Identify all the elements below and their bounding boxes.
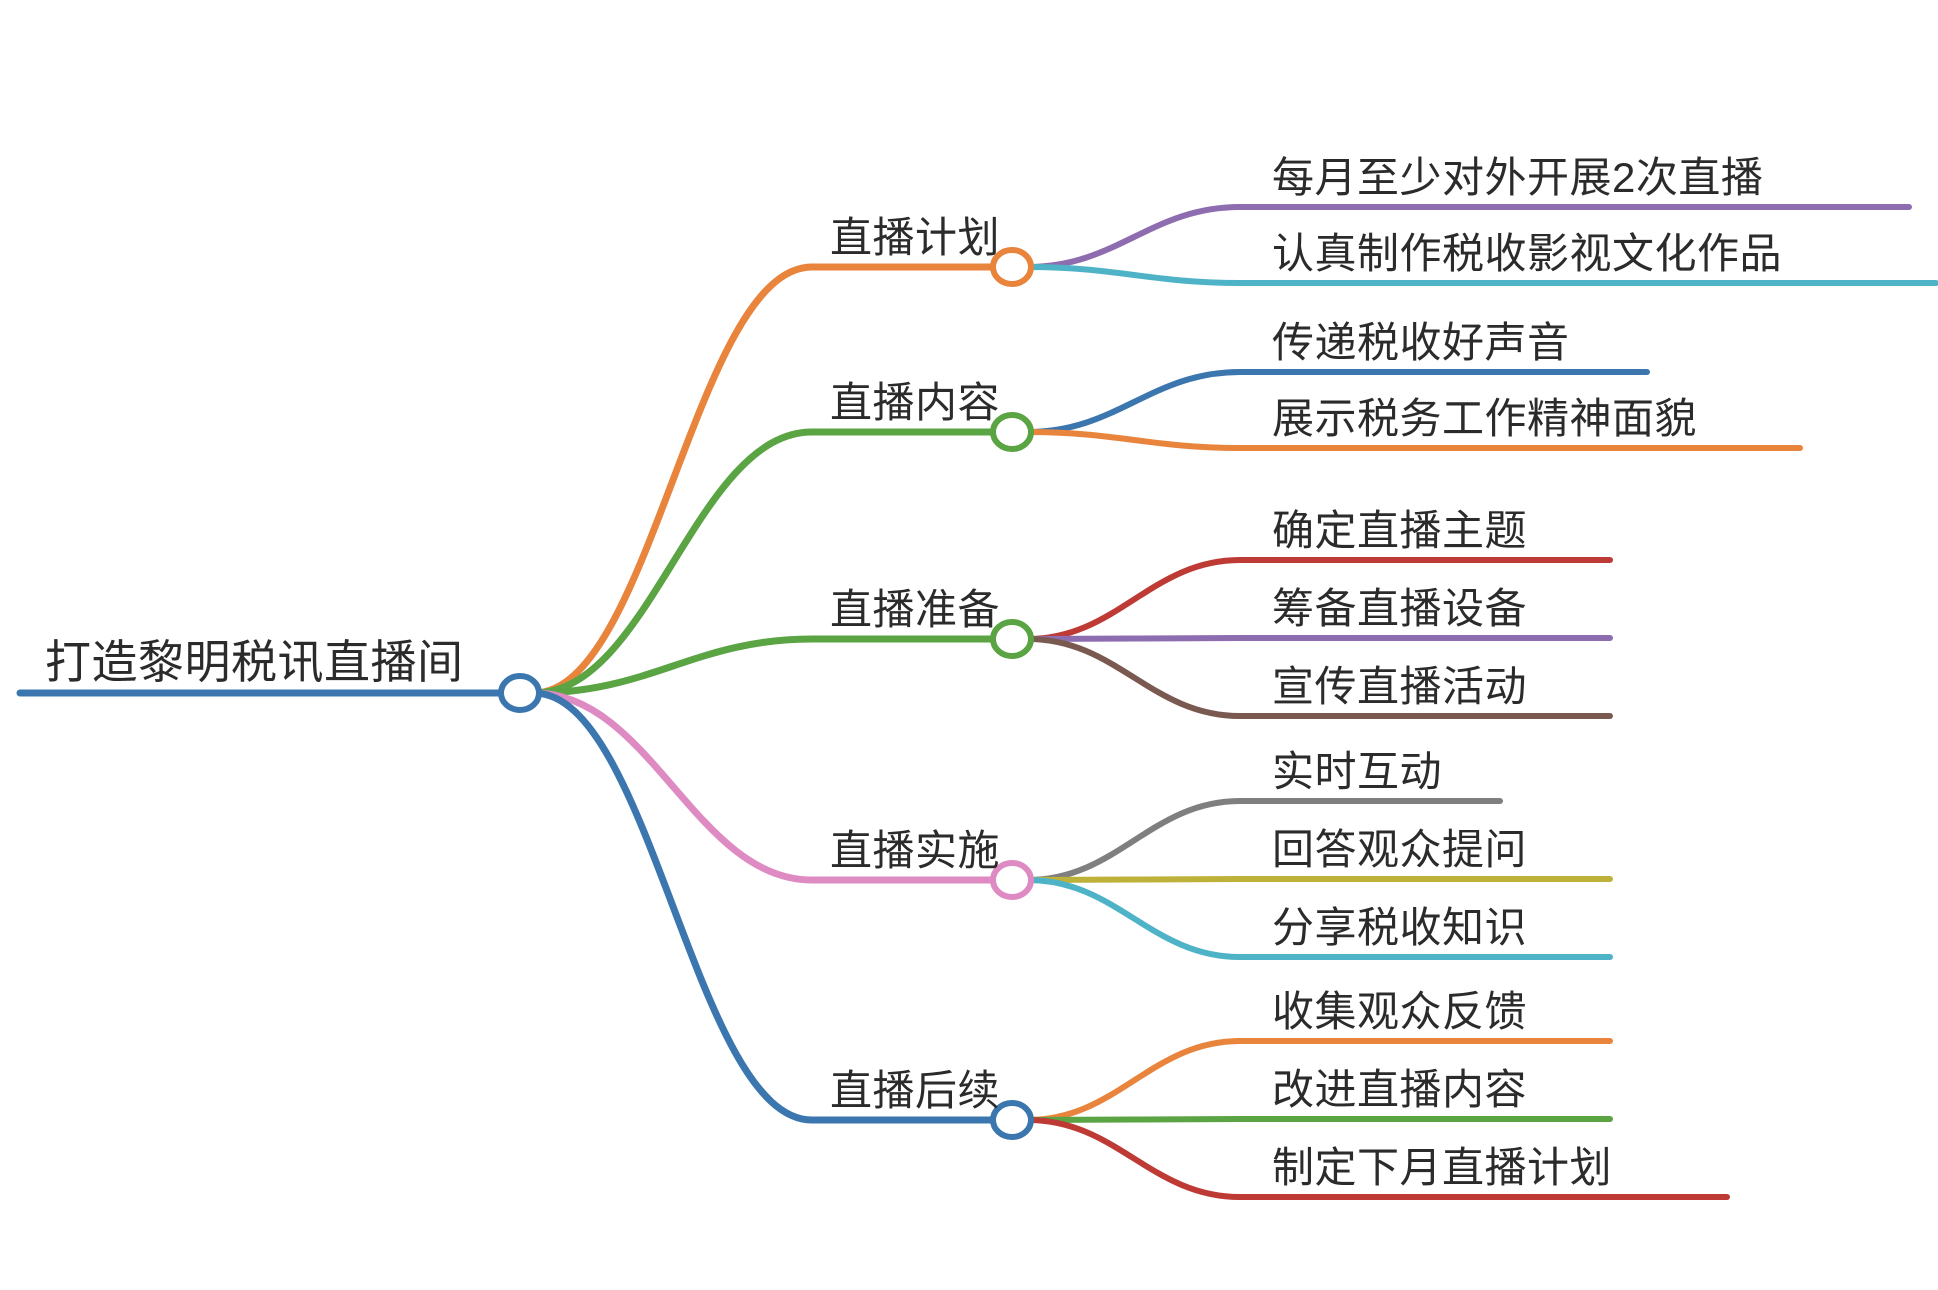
edge-followup-leaf-1 bbox=[1028, 1119, 1240, 1120]
edge-root-to-followup bbox=[534, 693, 812, 1120]
edge-implement-leaf-1 bbox=[1028, 879, 1240, 880]
leaf-label-prepare-2[interactable]: 宣传直播活动 bbox=[1272, 666, 1527, 708]
leaf-label-content-1[interactable]: 展示税务工作精神面貌 bbox=[1272, 398, 1697, 440]
leaf-label-content-0[interactable]: 传递税收好声音 bbox=[1272, 322, 1570, 364]
branch-label-plan[interactable]: 直播计划 bbox=[830, 217, 1000, 259]
edge-prepare-leaf-2 bbox=[1028, 639, 1240, 716]
branch-label-followup[interactable]: 直播后续 bbox=[830, 1070, 1000, 1112]
root-node-circle[interactable] bbox=[501, 676, 539, 710]
edge-implement-leaf-2 bbox=[1028, 880, 1240, 957]
mindmap-canvas: 打造黎明税讯直播间直播计划每月至少对外开展2次直播认真制作税收影视文化作品直播内… bbox=[0, 0, 1938, 1290]
edge-root-to-implement bbox=[534, 693, 812, 880]
edge-root-to-prepare bbox=[534, 639, 812, 693]
branch-label-content[interactable]: 直播内容 bbox=[830, 382, 1000, 424]
edge-plan-leaf-1 bbox=[1028, 267, 1240, 283]
edge-followup-leaf-2 bbox=[1028, 1120, 1240, 1197]
leaf-label-prepare-1[interactable]: 筹备直播设备 bbox=[1272, 588, 1527, 630]
edge-implement-leaf-0 bbox=[1028, 801, 1240, 880]
leaf-label-plan-0[interactable]: 每月至少对外开展2次直播 bbox=[1272, 157, 1763, 199]
edge-root-to-content bbox=[534, 432, 812, 693]
leaf-label-prepare-0[interactable]: 确定直播主题 bbox=[1272, 510, 1527, 552]
root-node-label[interactable]: 打造黎明税讯直播间 bbox=[45, 639, 464, 685]
leaf-label-followup-0[interactable]: 收集观众反馈 bbox=[1272, 991, 1527, 1033]
branch-label-prepare[interactable]: 直播准备 bbox=[830, 589, 1000, 631]
leaf-label-plan-1[interactable]: 认真制作税收影视文化作品 bbox=[1272, 233, 1782, 275]
edge-followup-leaf-0 bbox=[1028, 1041, 1240, 1120]
edge-content-leaf-0 bbox=[1028, 372, 1240, 432]
branch-label-implement[interactable]: 直播实施 bbox=[830, 830, 1000, 872]
leaf-label-implement-2[interactable]: 分享税收知识 bbox=[1272, 907, 1527, 949]
leaf-label-followup-2[interactable]: 制定下月直播计划 bbox=[1272, 1147, 1612, 1189]
edge-prepare-leaf-1 bbox=[1028, 638, 1240, 639]
leaf-label-followup-1[interactable]: 改进直播内容 bbox=[1272, 1069, 1527, 1111]
edge-plan-leaf-0 bbox=[1028, 207, 1240, 267]
edge-prepare-leaf-0 bbox=[1028, 560, 1240, 639]
leaf-label-implement-1[interactable]: 回答观众提问 bbox=[1272, 829, 1527, 871]
edge-content-leaf-1 bbox=[1028, 432, 1240, 448]
leaf-label-implement-0[interactable]: 实时互动 bbox=[1272, 751, 1442, 793]
edge-root-to-plan bbox=[534, 267, 812, 693]
